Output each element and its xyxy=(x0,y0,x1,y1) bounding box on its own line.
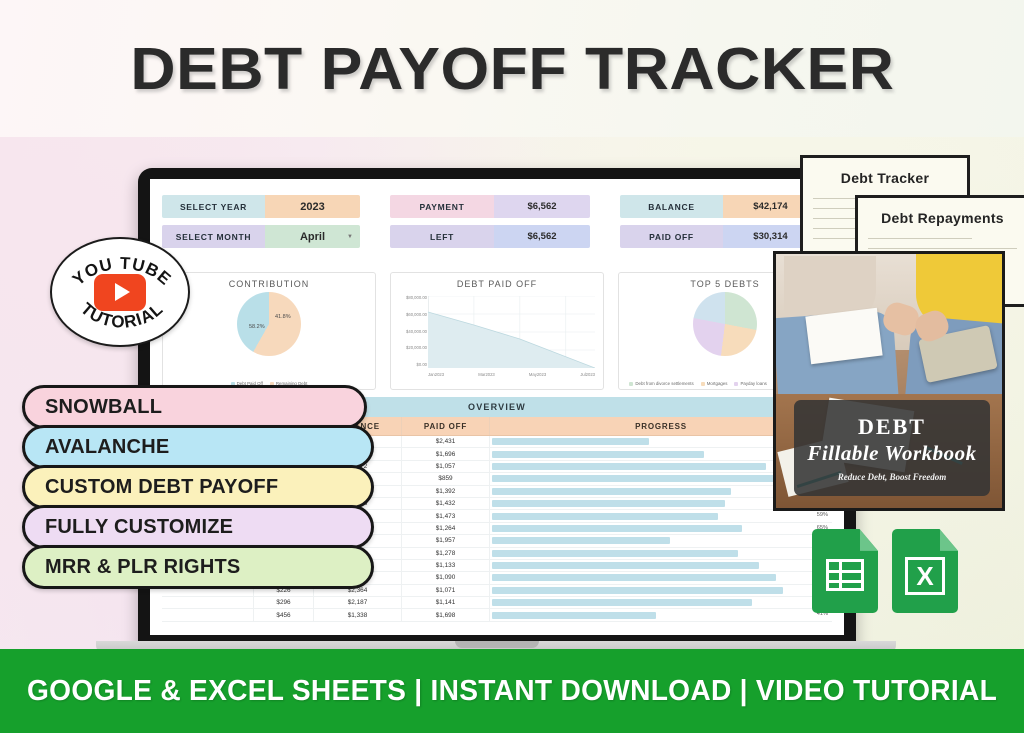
legend-label: Mortgages xyxy=(707,381,728,386)
cell-progress: 66% xyxy=(490,597,832,608)
y-tick: $20,000.00 xyxy=(397,345,427,350)
cell-paid-off: $859 xyxy=(402,473,490,484)
x-tick: Mar2023 xyxy=(478,372,495,377)
chart-debt-paid-off-plot: $80,000.00 $60,000.00 $40,000.00 $20,000… xyxy=(395,291,599,383)
area-plot xyxy=(428,296,595,368)
progress-bar xyxy=(492,488,731,495)
paid-off-label: PAID OFF xyxy=(620,225,723,248)
file-fold-corner-icon xyxy=(940,529,958,551)
progress-bar xyxy=(492,612,656,619)
progress-bar xyxy=(492,451,704,458)
legend-swatch xyxy=(701,382,705,386)
area-series-svg xyxy=(428,296,595,368)
file-fold-corner-icon xyxy=(860,529,878,551)
cell-paid-off: $1,141 xyxy=(402,597,490,608)
cell-left: $456 xyxy=(254,609,314,620)
youtube-tutorial-badge[interactable]: YOU TUBE TUTORIAL xyxy=(50,237,190,347)
cell-balance: $2,187 xyxy=(314,597,402,608)
progress-percent: 59% xyxy=(817,512,828,518)
google-sheets-icon xyxy=(812,529,878,613)
chart-debt-paid-off-title: DEBT PAID OFF xyxy=(395,279,599,289)
table-row: $456$1,338$1,69841% xyxy=(162,609,832,621)
table-row: $296$2,187$1,14166% xyxy=(162,597,832,609)
left-row: LEFT $6,562 xyxy=(390,225,590,248)
cell-paid-off: $1,278 xyxy=(402,548,490,559)
cell-name xyxy=(162,609,254,620)
excel-x-glyph: X xyxy=(916,563,933,589)
cell-progress: 60% xyxy=(490,572,832,583)
microsoft-excel-icon: X xyxy=(892,529,958,613)
product-listing-image: DEBT PAYOFF TRACKER SELECT YEAR 2023 SEL… xyxy=(0,0,1024,733)
select-year-value[interactable]: 2023 xyxy=(265,195,360,218)
laptop-notch xyxy=(455,641,539,648)
progress-bar xyxy=(492,587,783,594)
cell-progress: 59% xyxy=(490,510,832,521)
cell-paid-off: $1,264 xyxy=(402,523,490,534)
cell-balance: $1,338 xyxy=(314,609,402,620)
progress-bar xyxy=(492,513,718,520)
progress-bar xyxy=(492,438,649,445)
progress-bar xyxy=(492,537,670,544)
legend-swatch xyxy=(629,382,633,386)
feature-pill-list: SNOWBALL AVALANCHE CUSTOM DEBT PAYOFF FU… xyxy=(22,385,374,585)
feature-pill-custom-debt-payoff[interactable]: CUSTOM DEBT PAYOFF xyxy=(22,465,374,509)
workbook-tagline: Reduce Debt, Boost Freedom xyxy=(838,472,947,482)
badge-curved-text: YOU TUBE TUTORIAL xyxy=(52,239,192,349)
progress-bar xyxy=(492,463,766,470)
chevron-down-icon[interactable]: ▼ xyxy=(347,234,353,240)
badge-top-text: YOU TUBE xyxy=(69,254,175,290)
badge-bottom-text: TUTORIAL xyxy=(77,299,167,332)
feature-pill-snowball[interactable]: SNOWBALL xyxy=(22,385,367,429)
progress-bar xyxy=(492,562,759,569)
cell-progress: 44% xyxy=(490,535,832,546)
sheet-title: Debt Tracker xyxy=(803,170,967,186)
photo-paper xyxy=(805,308,882,364)
y-tick: $80,000.00 xyxy=(397,295,427,300)
cell-progress: 64% xyxy=(490,548,832,559)
pie-chart: 58.2% 41.8% xyxy=(237,292,301,356)
pie-slice-label-paid: 58.2% xyxy=(249,324,265,330)
progress-bar xyxy=(492,525,742,532)
chart-contribution: CONTRIBUTION 58.2% 41.8% Debt Paid Off xyxy=(162,272,376,390)
left-label: LEFT xyxy=(390,225,494,248)
feature-pill-mrr-plr-rights[interactable]: MRR & PLR RIGHTS xyxy=(22,545,374,589)
workbook-photo-card: DEBT Fillable Workbook Reduce Debt, Boos… xyxy=(773,251,1005,511)
cell-progress: 67% xyxy=(490,560,832,571)
form-line xyxy=(868,238,972,239)
cell-paid-off: $2,431 xyxy=(402,436,490,447)
x-axis-ticks: Jan2023 Mar2023 May2023 Jul2023 xyxy=(428,372,595,377)
kpi-card-payment: PAYMENT $6,562 LEFT $6,562 xyxy=(390,195,590,263)
progress-bar xyxy=(492,599,752,606)
page-title: DEBT PAYOFF TRACKER xyxy=(130,35,894,103)
x-tick: Jul2023 xyxy=(580,372,595,377)
cell-paid-off: $1,090 xyxy=(402,572,490,583)
cell-progress: 65% xyxy=(490,523,832,534)
select-month-value[interactable]: April ▼ xyxy=(265,225,360,248)
cell-paid-off: $1,957 xyxy=(402,535,490,546)
charts-row: CONTRIBUTION 58.2% 41.8% Debt Paid Off xyxy=(162,272,832,390)
mockup-stage: SELECT YEAR 2023 SELECT MONTH April ▼ PA… xyxy=(0,137,1024,649)
legend-item: Debt from divorce settlements xyxy=(629,381,693,386)
x-tick: Jan2023 xyxy=(428,372,444,377)
chart-debt-paid-off: DEBT PAID OFF $80,000.00 $60,000.00 $40,… xyxy=(390,272,604,390)
progress-bar xyxy=(492,574,776,581)
select-year-row[interactable]: SELECT YEAR 2023 xyxy=(162,195,360,218)
sheet-title: Debt Repayments xyxy=(858,210,1024,226)
grid-vline xyxy=(839,562,842,588)
cell-progress: 69% xyxy=(490,585,832,596)
form-line xyxy=(868,248,1017,249)
bottom-banner: GOOGLE & EXCEL SHEETS | INSTANT DOWNLOAD… xyxy=(0,649,1024,733)
x-tick: May2023 xyxy=(529,372,546,377)
y-tick: $0.00 xyxy=(397,362,427,367)
left-value: $6,562 xyxy=(494,225,590,248)
select-year-label: SELECT YEAR xyxy=(162,195,265,218)
workbook-title-line1: DEBT xyxy=(858,414,926,440)
y-axis-ticks: $80,000.00 $60,000.00 $40,000.00 $20,000… xyxy=(397,295,427,367)
file-format-icons: X xyxy=(812,529,958,613)
y-tick: $40,000.00 xyxy=(397,329,427,334)
legend-label: Debt from divorce settlements xyxy=(635,381,693,386)
cell-paid-off: $1,392 xyxy=(402,486,490,497)
cell-paid-off: $1,071 xyxy=(402,585,490,596)
spreadsheet-grid-icon xyxy=(826,559,864,591)
cell-left: $296 xyxy=(254,597,314,608)
chart-contribution-title: CONTRIBUTION xyxy=(167,279,371,289)
cell-paid-off: $1,473 xyxy=(402,510,490,521)
feature-pill-fully-customize[interactable]: FULLY CUSTOMIZE xyxy=(22,505,374,549)
cell-paid-off: $1,133 xyxy=(402,560,490,571)
excel-x-icon: X xyxy=(905,557,945,595)
kpi-row: SELECT YEAR 2023 SELECT MONTH April ▼ PA… xyxy=(162,195,832,263)
column-header-paid-off: PAID OFF xyxy=(402,417,490,435)
payment-row: PAYMENT $6,562 xyxy=(390,195,590,218)
payment-value: $6,562 xyxy=(494,195,590,218)
cell-name xyxy=(162,597,254,608)
title-band: DEBT PAYOFF TRACKER xyxy=(0,0,1024,137)
chart-contribution-plot: 58.2% 41.8% xyxy=(167,292,371,356)
pie-slice-label-remaining: 41.8% xyxy=(275,314,291,320)
legend-label: Payday loans xyxy=(740,381,766,386)
cell-paid-off: $1,432 xyxy=(402,498,490,509)
progress-bar xyxy=(492,550,738,557)
payment-label: PAYMENT xyxy=(390,195,494,218)
feature-pill-avalanche[interactable]: AVALANCHE xyxy=(22,425,374,469)
select-month-text: April xyxy=(300,231,325,243)
paid-off-row: PAID OFF $30,314 xyxy=(620,225,818,248)
cell-progress: 41% xyxy=(490,609,832,620)
banner-text: GOOGLE & EXCEL SHEETS | INSTANT DOWNLOAD… xyxy=(27,675,997,708)
legend-swatch xyxy=(734,382,738,386)
balance-row: BALANCE $42,174 xyxy=(620,195,818,218)
balance-label: BALANCE xyxy=(620,195,723,218)
workbook-overlay-card: DEBT Fillable Workbook Reduce Debt, Boos… xyxy=(794,400,990,496)
y-tick: $60,000.00 xyxy=(397,312,427,317)
workbook-title-line2: Fillable Workbook xyxy=(807,441,976,466)
progress-bar xyxy=(492,500,725,507)
legend-item: Payday loans xyxy=(734,381,766,386)
pie-chart xyxy=(693,292,757,356)
cell-paid-off: $1,696 xyxy=(402,448,490,459)
cell-paid-off: $1,698 xyxy=(402,609,490,620)
progress-bar xyxy=(492,475,793,482)
legend-item: Mortgages xyxy=(701,381,728,386)
cell-paid-off: $1,057 xyxy=(402,461,490,472)
